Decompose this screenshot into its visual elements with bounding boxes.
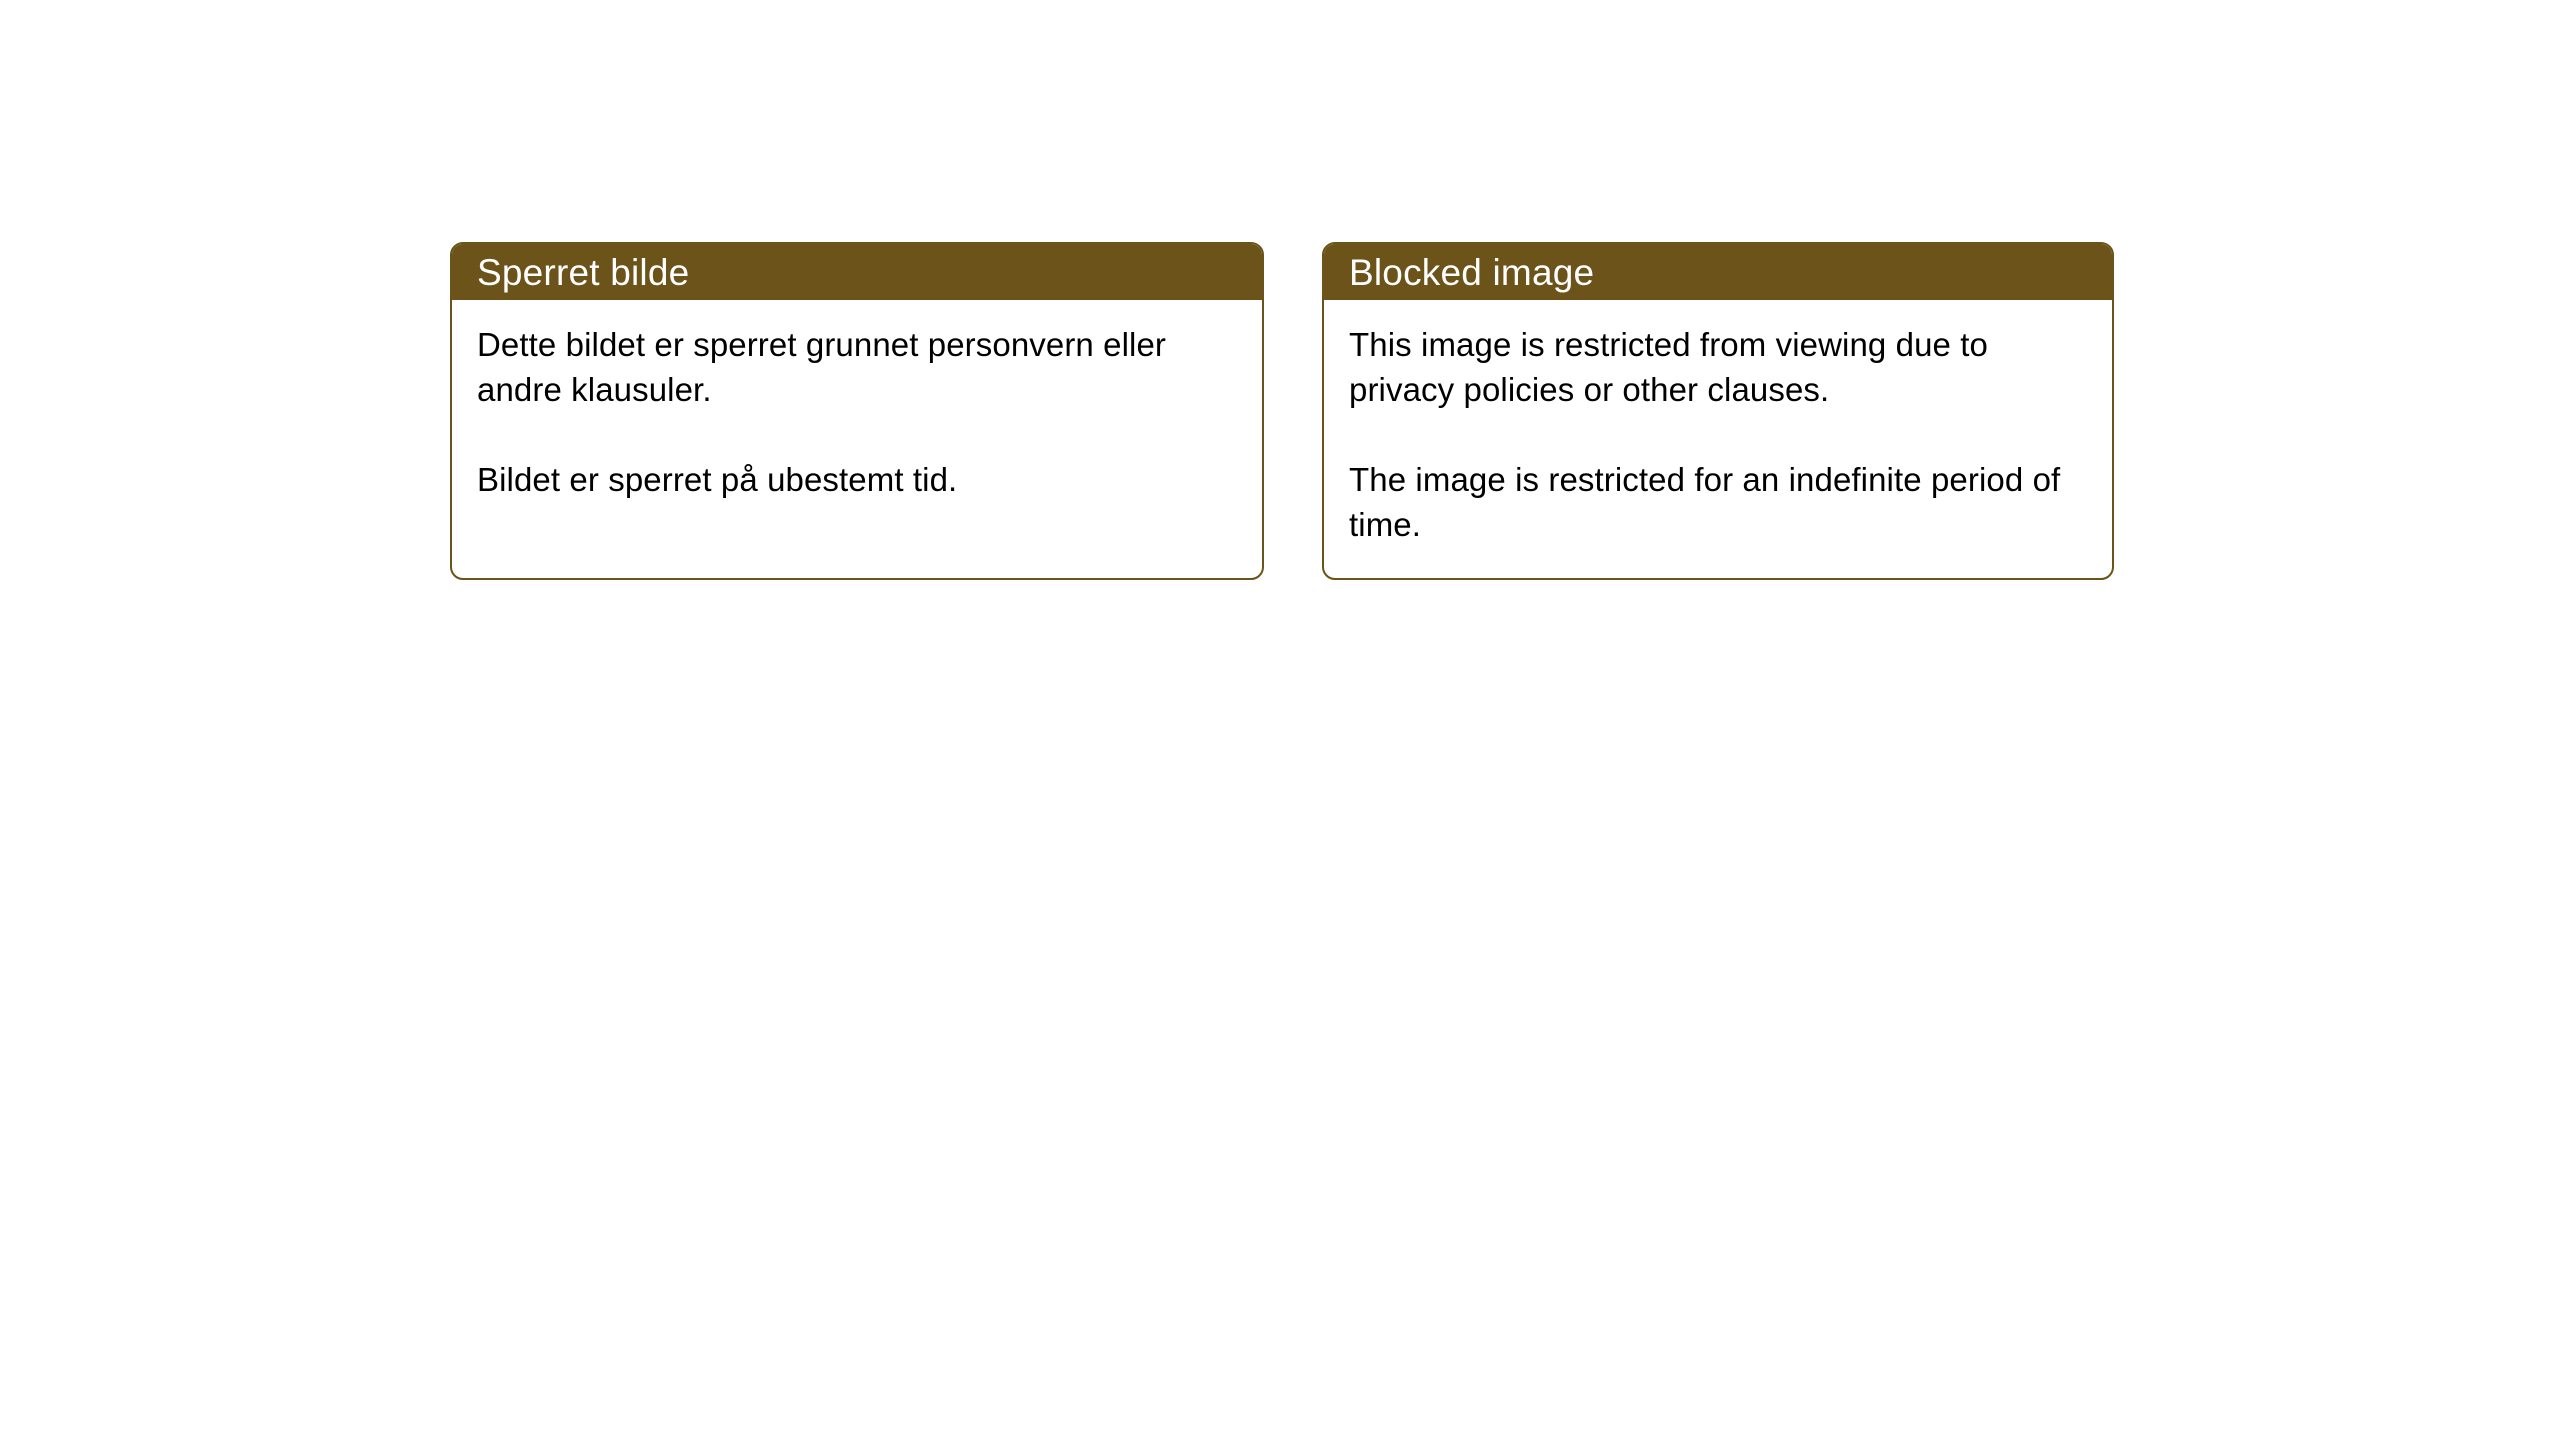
card-header-english: Blocked image xyxy=(1324,244,2112,300)
card-paragraph-reason-english: This image is restricted from viewing du… xyxy=(1349,322,2088,412)
card-body-english: This image is restricted from viewing du… xyxy=(1324,300,2112,547)
card-paragraph-duration-norwegian: Bildet er sperret på ubestemt tid. xyxy=(477,457,1238,502)
card-paragraph-reason-norwegian: Dette bildet er sperret grunnet personve… xyxy=(477,322,1238,412)
card-header-norwegian: Sperret bilde xyxy=(452,244,1262,300)
card-body-norwegian: Dette bildet er sperret grunnet personve… xyxy=(452,300,1262,502)
card-paragraph-duration-english: The image is restricted for an indefinit… xyxy=(1349,457,2088,547)
blocked-image-card-norwegian: Sperret bilde Dette bildet er sperret gr… xyxy=(450,242,1264,580)
card-title-english: Blocked image xyxy=(1349,254,1594,291)
page-canvas: Sperret bilde Dette bildet er sperret gr… xyxy=(0,0,2560,1440)
card-title-norwegian: Sperret bilde xyxy=(477,254,689,291)
blocked-image-card-english: Blocked image This image is restricted f… xyxy=(1322,242,2114,580)
